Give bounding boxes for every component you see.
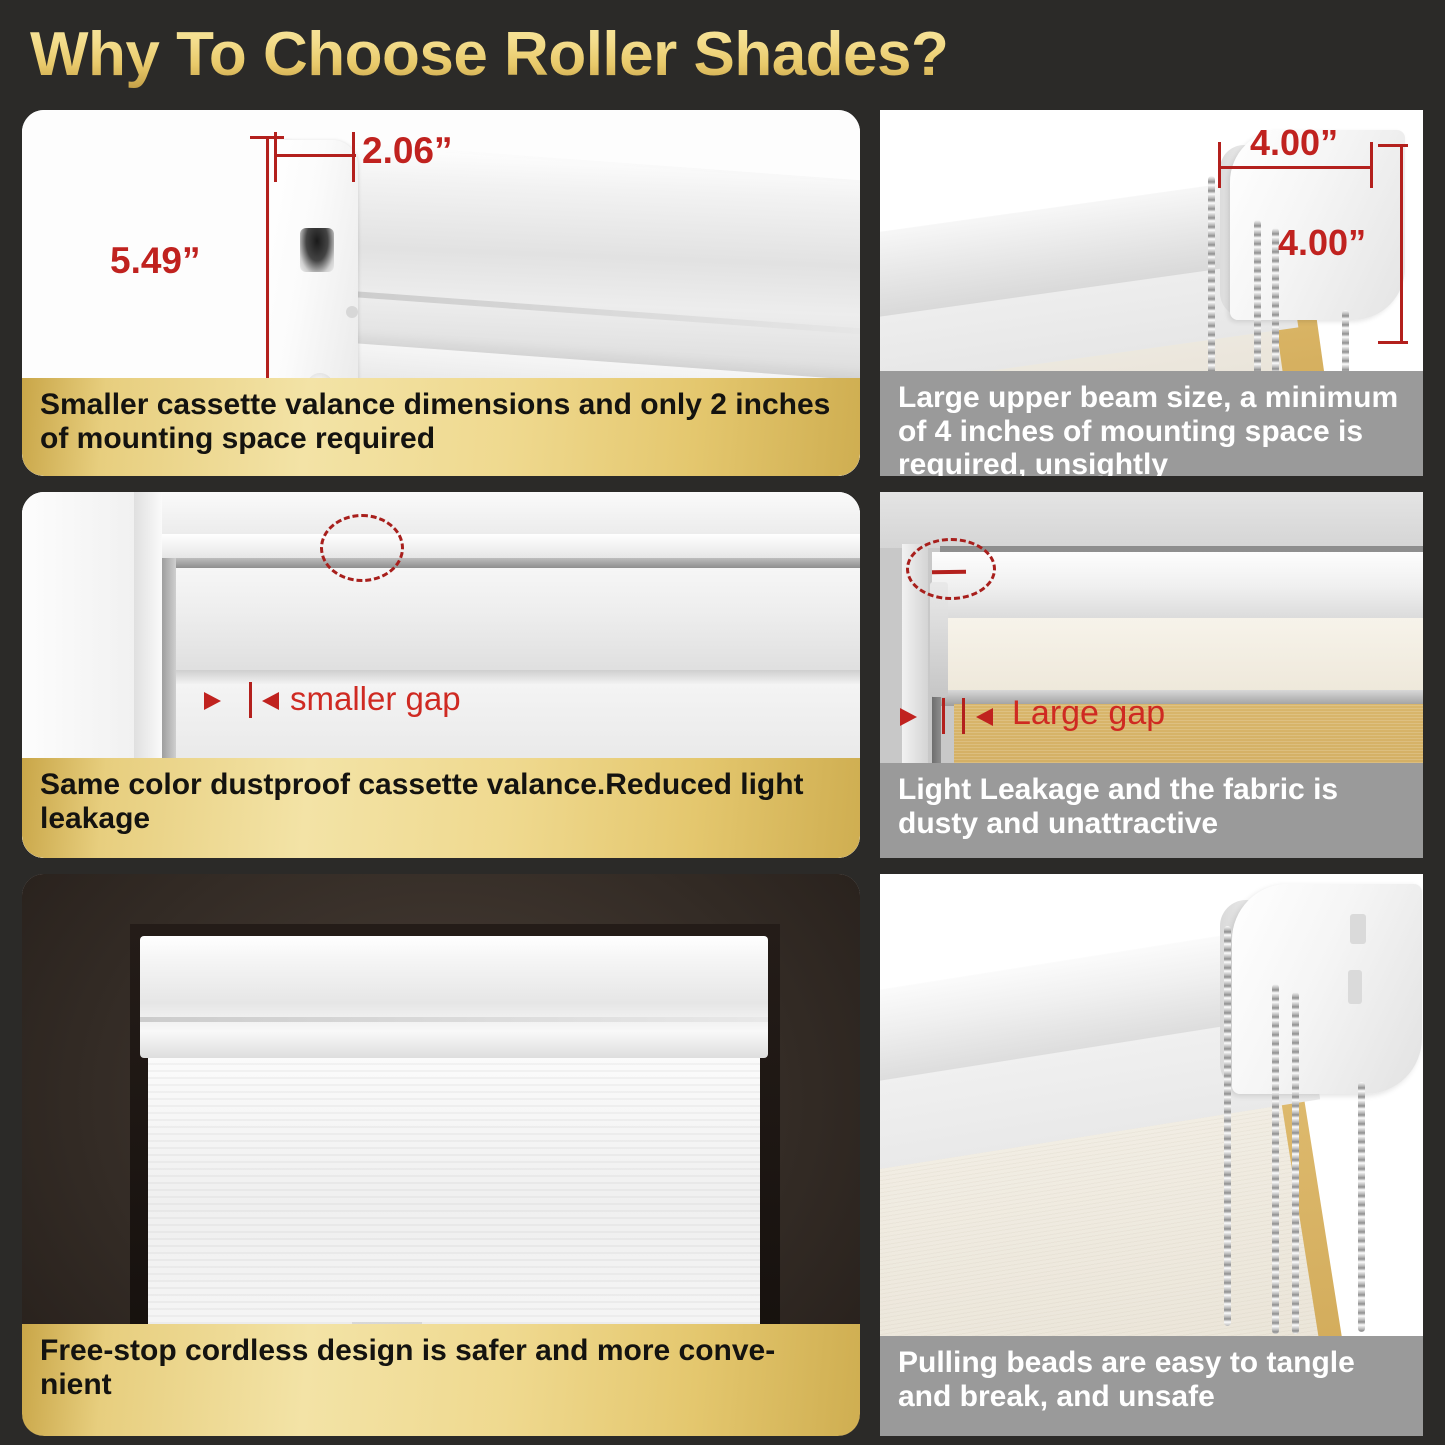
cassette-slot — [300, 228, 334, 272]
panel-caption-good-cassette: Smaller cassette valance dimensions and … — [22, 378, 860, 476]
bead-chain — [1272, 984, 1279, 1334]
highlight-marker — [932, 570, 966, 575]
panel-good-cassette-dimensions: 2.06” 5.49” Smaller cassette valance dim… — [22, 110, 860, 476]
gap-arrow-right-icon — [204, 692, 221, 710]
dim-height-tick-top — [250, 136, 284, 139]
dim-width-tick-right — [1370, 142, 1373, 188]
dim-height-tick-bottom — [1378, 341, 1408, 344]
panel-caption-good-gap: Same color dustproof cassette valance.Re… — [22, 758, 860, 858]
dim-width-tick-right — [352, 132, 355, 182]
dim-width-tick-left — [1218, 142, 1221, 188]
cassette-valance — [140, 936, 768, 1058]
panel-caption-bad-beads: Pulling beads are easy to tangle and bre… — [880, 1336, 1423, 1436]
dim-width-line — [1218, 166, 1373, 169]
bead-chain — [1358, 1082, 1365, 1332]
panel-caption-good-cordless: Free-stop cordless design is safer and m… — [22, 1324, 860, 1436]
dimension-label-height: 5.49” — [110, 240, 201, 282]
bead-chain — [1224, 926, 1231, 1326]
header: Why To Choose Roller Shades? — [30, 14, 1410, 96]
dimension-label-width: 4.00” — [1250, 122, 1338, 164]
gap-callout-label: Large gap — [1012, 694, 1165, 733]
panel-caption-bad-leakage: Light Leakage and the fabric is dusty an… — [880, 763, 1423, 858]
bead-chain — [1254, 220, 1261, 384]
gap-callout-label: smaller gap — [290, 680, 461, 718]
dim-width-tick-left — [274, 132, 277, 182]
panel-bad-pulling-beads: Pulling beads are easy to tangle and bre… — [880, 874, 1423, 1436]
dim-height-line — [1400, 144, 1403, 344]
gap-arrow-left-icon — [976, 708, 993, 726]
panel-good-smaller-gap: smaller gap Same color dustproof cassett… — [22, 492, 860, 858]
dim-height-line — [266, 136, 269, 416]
dim-height-tick-top — [1378, 144, 1408, 147]
gap-tick — [942, 698, 945, 734]
dimension-label-width: 2.06” — [362, 130, 453, 172]
panel-caption-bad-beam: Large upper beam size, a minimum of 4 in… — [880, 371, 1423, 476]
panel-bad-large-upper-beam: 4.00” 4.00” Large upper beam size, a min… — [880, 110, 1423, 476]
comparison-grid: 2.06” 5.49” Smaller cassette valance dim… — [0, 104, 1445, 1445]
gap-tick — [249, 682, 252, 718]
panel-bad-light-leakage: Large gap Light Leakage and the fabric i… — [880, 492, 1423, 858]
dimension-label-height: 4.00” — [1278, 222, 1366, 264]
gap-arrow-right-icon — [900, 708, 917, 726]
dim-width-line — [274, 154, 356, 157]
panel-good-cordless: Free-stop cordless design is safer and m… — [22, 874, 860, 1436]
roller-shade-fabric — [148, 1056, 760, 1352]
screw-small-icon — [346, 306, 358, 318]
bead-chain — [1292, 992, 1299, 1334]
page-title: Why To Choose Roller Shades? — [30, 14, 1410, 96]
bead-chain — [1208, 176, 1215, 384]
gap-arrow-left-icon — [262, 692, 279, 710]
gap-tick — [962, 698, 965, 734]
highlight-circle-icon — [320, 514, 404, 582]
